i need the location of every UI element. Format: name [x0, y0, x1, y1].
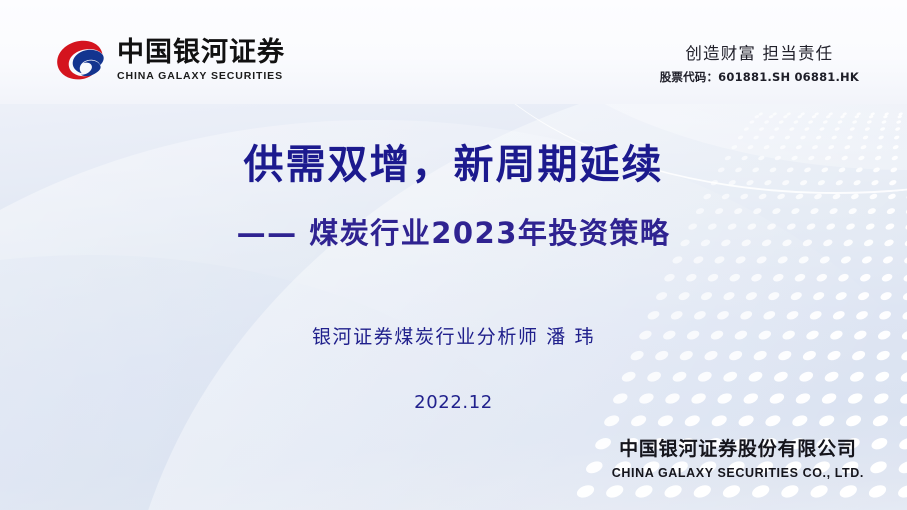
footer-company-en: CHINA GALAXY SECURITIES CO., LTD. — [612, 466, 864, 480]
stock-ticker-codes: 股票代码：601881.SH 06881.HK — [660, 69, 859, 85]
footer-company-cn: 中国银河证券股份有限公司 — [612, 434, 864, 461]
brand-slogan: 创造财富 担当责任 — [660, 40, 859, 64]
page-title: 供需双增，新周期延续 — [0, 140, 907, 190]
slide-footer: 中国银河证券股份有限公司 CHINA GALAXY SECURITIES CO.… — [612, 434, 864, 480]
brand-slogan-block: 创造财富 担当责任 股票代码：601881.SH 06881.HK — [660, 40, 859, 85]
company-name-cn: 中国银河证券 — [117, 38, 285, 67]
company-name-en: CHINA GALAXY SECURITIES — [117, 70, 285, 82]
cover-title-block: 供需双增，新周期延续 —— 煤炭行业2023年投资策略 — [0, 140, 907, 252]
background-arc-lower-left — [0, 255, 600, 510]
publication-date: 2022.12 — [0, 392, 907, 413]
galaxy-swirl-logo-icon — [55, 38, 107, 82]
presentation-cover-slide: 中国银河证券 CHINA GALAXY SECURITIES 创造财富 担当责任… — [0, 0, 907, 510]
page-subtitle: —— 煤炭行业2023年投资策略 — [0, 210, 907, 252]
company-logo-wordmark: 中国银河证券 CHINA GALAXY SECURITIES — [117, 38, 285, 81]
slide-header: 中国银河证券 CHINA GALAXY SECURITIES 创造财富 担当责任… — [0, 0, 907, 104]
author-line: 银河证券煤炭行业分析师 潘 玮 — [0, 322, 907, 349]
company-logo: 中国银河证券 CHINA GALAXY SECURITIES — [55, 38, 285, 82]
